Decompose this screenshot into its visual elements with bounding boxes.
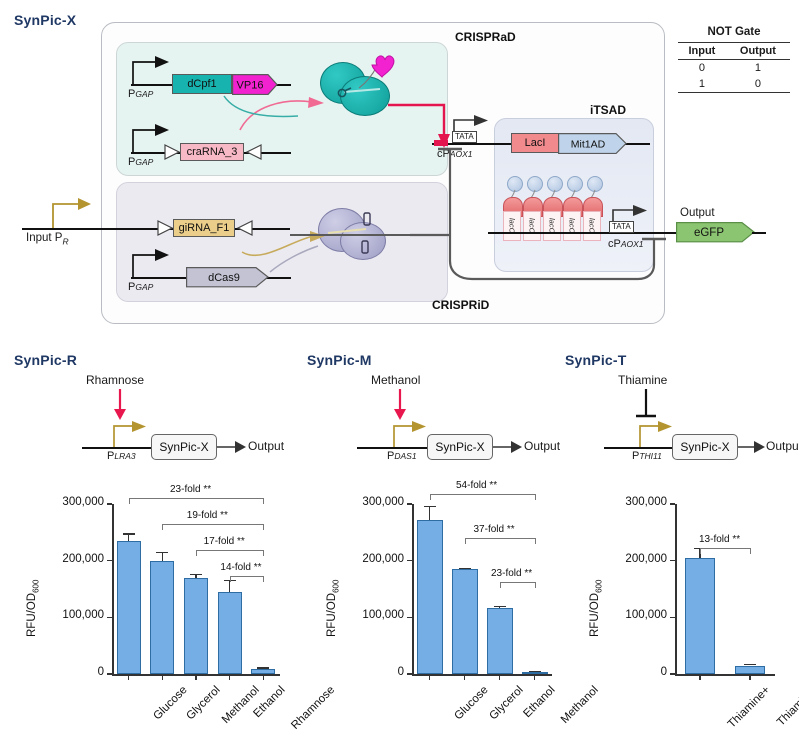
x-tick-label: Glucose xyxy=(151,684,189,722)
y-tick xyxy=(407,560,412,561)
crispr-ad-label: CRISPRaD xyxy=(455,30,516,44)
y-tick xyxy=(107,673,112,674)
synpic-r-chart: 0100,000200,000300,000RFU/OD600GlucoseGl… xyxy=(0,480,300,751)
significance-bracket-end xyxy=(196,550,197,556)
not-gate-cell-in-1: 1 xyxy=(678,76,726,93)
significance-label: 19-fold ** xyxy=(187,510,228,521)
x-tick xyxy=(162,674,163,680)
promoter-thi11-label: PTHI11 xyxy=(632,450,662,462)
bar xyxy=(487,608,513,674)
y-tick-label: 0 xyxy=(38,666,104,678)
significance-bracket xyxy=(430,494,535,495)
promoter-gap-1-label: PGAP xyxy=(128,88,153,100)
error-cap xyxy=(744,664,756,665)
significance-bracket-end xyxy=(535,582,536,588)
y-tick xyxy=(670,503,675,504)
methanol-induction-arrow-icon xyxy=(392,389,408,421)
synpic-m-output-label: Output xyxy=(524,439,560,453)
input-promoter-arrow-icon xyxy=(50,196,94,230)
significance-label: 14-fold ** xyxy=(220,562,261,573)
significance-bracket-end xyxy=(129,498,130,504)
significance-label: 37-fold ** xyxy=(474,524,515,535)
y-tick xyxy=(670,617,675,618)
x-tick xyxy=(534,674,535,680)
significance-bracket xyxy=(196,550,263,551)
synpic-r-output-label: Output xyxy=(248,439,284,453)
error-cap xyxy=(494,606,506,607)
y-tick-label: 100,000 xyxy=(601,609,667,621)
svg-text:eGFP: eGFP xyxy=(694,227,724,239)
significance-label: 23-fold ** xyxy=(170,484,211,495)
x-tick xyxy=(263,674,264,680)
not-gate-row-0: 0 1 xyxy=(678,60,790,77)
y-axis xyxy=(675,504,677,674)
y-tick xyxy=(670,560,675,561)
y-tick xyxy=(107,503,112,504)
significance-bracket xyxy=(500,582,535,583)
crispr-id-label: CRISPRiD xyxy=(432,298,489,312)
svg-text:VP16: VP16 xyxy=(237,79,264,91)
x-tick xyxy=(195,674,196,680)
inducer-methanol-label: Methanol xyxy=(371,373,420,387)
x-tick xyxy=(699,674,700,680)
bar xyxy=(452,569,478,674)
gap-promoter-arrow-3-icon xyxy=(131,247,173,279)
gap-promoter-arrow-1-icon xyxy=(131,54,173,86)
y-tick-label: 100,000 xyxy=(338,609,404,621)
significance-bracket-end xyxy=(263,524,264,530)
significance-label: 13-fold ** xyxy=(699,534,740,545)
x-tick-label: Glucose xyxy=(452,684,490,722)
synpic-r-output-arrow-icon xyxy=(217,439,247,455)
x-tick xyxy=(464,674,465,680)
gene-crarna-3: craRNA_3 xyxy=(180,143,244,161)
synpic-r-promoter-arrow-icon xyxy=(112,418,152,448)
y-tick xyxy=(107,617,112,618)
promoter-gap-2-label: PGAP xyxy=(128,156,153,168)
gene-dcpf1: dCpf1 xyxy=(172,74,232,94)
error-bar xyxy=(429,506,430,520)
rhamnose-induction-arrow-icon xyxy=(112,389,128,421)
y-axis xyxy=(112,504,114,674)
bar xyxy=(735,666,765,675)
synpic-m-chart: 0100,000200,000300,000RFU/OD600GlucoseGl… xyxy=(300,480,565,751)
error-bar xyxy=(128,533,129,541)
x-tick xyxy=(128,674,129,680)
significance-bracket-end xyxy=(500,582,501,588)
not-gate-table: NOT Gate Input Output 0 1 1 0 xyxy=(678,26,790,93)
error-cap xyxy=(459,568,471,569)
y-tick-label: 200,000 xyxy=(338,553,404,565)
y-tick xyxy=(670,673,675,674)
repression-connector-icon xyxy=(410,143,670,289)
y-tick-label: 0 xyxy=(338,666,404,678)
input-label: Input PR xyxy=(26,232,69,246)
egfp-tail-line xyxy=(752,232,766,234)
synpic-t-output-label: Output xyxy=(766,439,799,453)
dcpf1-to-protein-curve-icon xyxy=(222,94,302,122)
bar xyxy=(218,592,242,674)
promoter-das1-label: PDAS1 xyxy=(387,450,417,462)
thiamine-repression-bar-icon xyxy=(634,389,658,421)
bar xyxy=(417,520,443,674)
x-tick-label: Ethanol xyxy=(521,684,557,720)
y-tick-label: 300,000 xyxy=(338,496,404,508)
synpic-r-module-box: SynPic-X xyxy=(151,434,217,460)
gene-egfp: eGFP xyxy=(676,222,756,243)
significance-bracket-end xyxy=(230,576,231,582)
x-tick-label: Glycerol xyxy=(487,684,525,722)
inducer-thiamine-label: Thiamine xyxy=(618,373,667,387)
significance-bracket-end xyxy=(162,524,163,530)
panel-title-synpic-t: SynPic-T xyxy=(565,352,627,368)
svg-text:dCas9: dCas9 xyxy=(208,272,240,284)
error-cap xyxy=(190,574,202,575)
not-gate-row-1: 1 0 xyxy=(678,76,790,93)
y-tick-label: 200,000 xyxy=(601,553,667,565)
output-label: Output xyxy=(680,207,715,219)
y-axis-label: RFU/OD600 xyxy=(326,579,340,636)
not-gate-cell-out-1: 0 xyxy=(726,76,790,93)
girna-guide-icon xyxy=(322,205,382,259)
y-tick xyxy=(107,560,112,561)
significance-bracket-end xyxy=(465,538,466,544)
y-tick-label: 100,000 xyxy=(38,609,104,621)
significance-label: 54-fold ** xyxy=(456,480,497,491)
significance-bracket-end xyxy=(750,548,751,554)
y-tick-label: 0 xyxy=(601,666,667,678)
promoter-gap-3-label: PGAP xyxy=(128,281,153,293)
crispri-to-promoter-line xyxy=(290,234,412,236)
significance-bracket-end xyxy=(263,576,264,582)
significance-bracket-end xyxy=(430,494,431,500)
x-tick-label: Methanol xyxy=(220,684,262,726)
significance-bracket-end xyxy=(263,498,264,504)
error-cap xyxy=(529,671,541,672)
gene-dcas9: dCas9 xyxy=(186,267,270,288)
synpic-m-promoter-arrow-icon xyxy=(392,418,432,448)
crarna-guide-icon xyxy=(336,84,384,100)
error-cap xyxy=(156,552,168,553)
y-tick-label: 300,000 xyxy=(38,496,104,508)
significance-bracket xyxy=(129,498,263,499)
significance-bracket-end xyxy=(263,550,264,556)
panel-title-synpic-m: SynPic-M xyxy=(307,352,372,368)
y-tick-label: 300,000 xyxy=(601,496,667,508)
itsad-label: iTSAD xyxy=(590,103,626,117)
x-tick xyxy=(749,674,750,680)
synpic-t-chart: 0100,000200,000300,000RFU/OD600Thiamine+… xyxy=(565,480,799,751)
error-cap xyxy=(257,667,269,668)
dcas9-to-protein-curve-icon xyxy=(268,244,320,274)
panel-title-synpic-x: SynPic-X xyxy=(14,12,76,28)
y-tick-label: 200,000 xyxy=(38,553,104,565)
y-axis-label: RFU/OD600 xyxy=(26,579,40,636)
bar xyxy=(184,578,208,674)
bar xyxy=(150,561,174,674)
synpic-t-module-box: SynPic-X xyxy=(672,434,738,460)
not-gate-cell-in-0: 0 xyxy=(678,60,726,77)
inducer-rhamnose-label: Rhamnose xyxy=(86,373,144,387)
x-tick xyxy=(229,674,230,680)
x-axis xyxy=(675,674,775,676)
significance-bracket-end xyxy=(700,548,701,554)
error-cap xyxy=(123,533,135,534)
crarna-right-insulator-icon xyxy=(245,143,263,161)
bar xyxy=(685,558,715,674)
promoter-lra3-label: PLRA3 xyxy=(107,450,136,462)
crarna-left-insulator-icon xyxy=(163,143,181,161)
significance-bracket xyxy=(700,548,750,549)
x-tick xyxy=(429,674,430,680)
y-tick xyxy=(407,617,412,618)
girna-left-insulator-icon xyxy=(156,219,174,237)
x-tick-label: Thiamine- xyxy=(775,684,799,729)
not-gate-header-input: Input xyxy=(678,43,726,60)
significance-bracket xyxy=(465,538,535,539)
significance-label: 23-fold ** xyxy=(491,568,532,579)
y-axis-label: RFU/OD600 xyxy=(589,579,603,636)
significance-bracket xyxy=(162,524,263,525)
synpic-m-output-arrow-icon xyxy=(493,439,523,455)
not-gate-cell-out-0: 1 xyxy=(726,60,790,77)
synpic-t-output-arrow-icon xyxy=(738,439,766,455)
synpic-m-module-box: SynPic-X xyxy=(427,434,493,460)
y-tick xyxy=(407,673,412,674)
panel-title-synpic-r: SynPic-R xyxy=(14,352,77,368)
not-gate-title: NOT Gate xyxy=(678,26,790,38)
gene-girna-f1: giRNA_F1 xyxy=(173,219,235,237)
y-tick xyxy=(407,503,412,504)
bar xyxy=(117,541,141,674)
significance-bracket-end xyxy=(535,538,536,544)
x-tick xyxy=(499,674,500,680)
not-gate-header-output: Output xyxy=(726,43,790,60)
x-axis xyxy=(412,674,552,676)
significance-bracket-end xyxy=(535,494,536,500)
x-tick-label: Glycerol xyxy=(185,684,223,722)
significance-label: 17-fold ** xyxy=(204,536,245,547)
tata-box-top: TATA xyxy=(452,131,477,143)
y-axis xyxy=(412,504,414,674)
error-cap xyxy=(424,506,436,507)
error-bar xyxy=(162,552,163,562)
significance-bracket xyxy=(230,576,264,577)
x-tick-label: Thiamine+ xyxy=(726,684,773,731)
